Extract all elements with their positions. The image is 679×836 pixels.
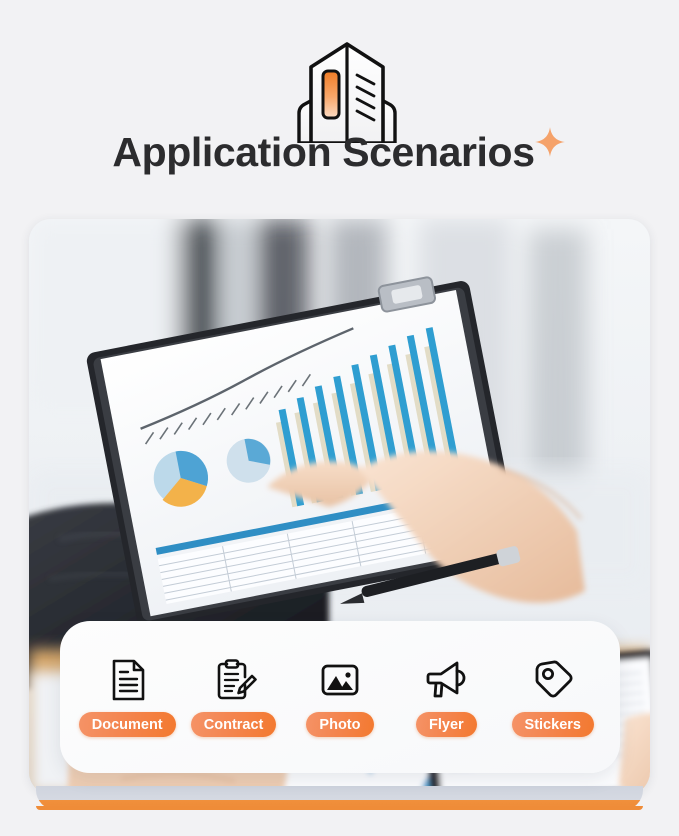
badge-label-flyer[interactable]: Flyer [416,712,477,737]
badge-item-contract[interactable]: Contract [182,657,286,737]
badge-label-stickers[interactable]: Stickers [512,712,594,737]
page-title: Application Scenarios [112,131,534,174]
page-root: Application Scenarios [0,0,679,836]
badge-item-photo[interactable]: Photo [288,657,392,737]
badge-label-contract[interactable]: Contract [191,712,277,737]
category-badge-row: Document Contract [60,621,620,773]
clipboard-pencil-icon [211,657,257,703]
sparkle-icon [533,125,567,159]
page-title-row: Application Scenarios [0,131,679,174]
badge-item-flyer[interactable]: Flyer [394,657,498,737]
badge-item-stickers[interactable]: Stickers [501,657,605,737]
office-building-icon [291,41,403,143]
page-header: Application Scenarios [0,0,679,210]
badge-item-document[interactable]: Document [75,657,179,737]
card-accent-bar [36,786,643,810]
category-badge-panel: Document Contract [60,621,620,773]
image-icon [317,657,363,703]
megaphone-icon [423,657,469,703]
document-icon [104,657,150,703]
badge-label-photo[interactable]: Photo [306,712,373,737]
tag-icon [530,657,576,703]
badge-label-document[interactable]: Document [79,712,176,737]
